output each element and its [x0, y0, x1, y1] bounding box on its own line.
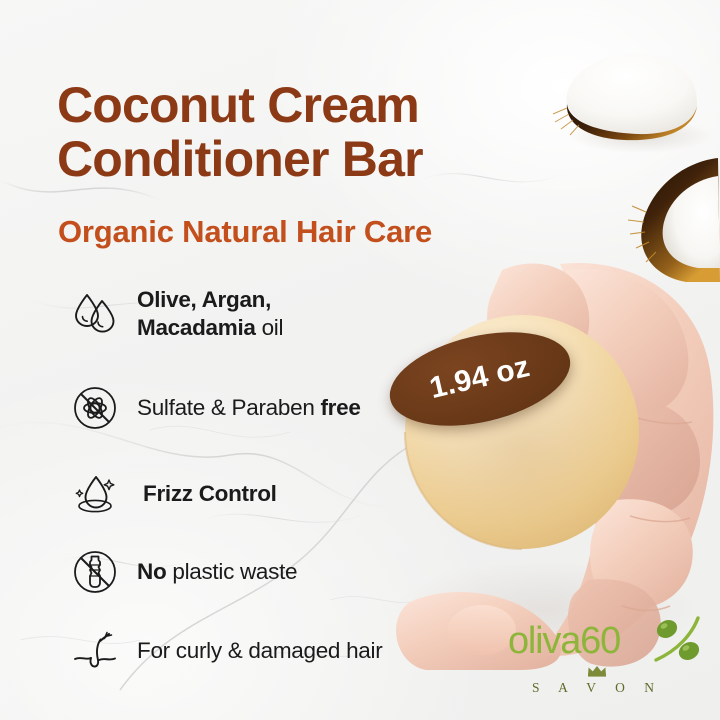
feature-oils-regular: oil [256, 315, 284, 340]
brand-name: oliva60 [508, 620, 620, 663]
weight-badge-label: 1.94 oz [427, 350, 534, 406]
feature-text-no-plastic: No plastic waste [137, 558, 297, 586]
oil-droplets-icon [66, 285, 124, 343]
no-plastic-bottle-icon [66, 543, 124, 601]
feature-oils-bold-1: Olive, Argan, [137, 287, 271, 312]
feature-plastic-bold: No [137, 559, 166, 584]
feature-curly-regular: For curly & damaged hair [137, 638, 382, 663]
droplet-sparkle-icon [66, 465, 124, 523]
feature-oils-bold-2: Macadamia [137, 315, 256, 340]
feature-text-frizz-control: Frizz Control [143, 480, 277, 508]
feature-sulfate-regular: Sulfate & Paraben [137, 395, 320, 420]
feature-text-curly-hair: For curly & damaged hair [137, 637, 382, 665]
headline-line-2: Conditioner Bar [57, 132, 577, 186]
page-title: Coconut Cream Conditioner Bar [57, 78, 577, 186]
feature-sulfate-bold: free [320, 395, 360, 420]
feature-frizz-bold: Frizz Control [143, 481, 277, 506]
olive-percent-icon [648, 616, 704, 666]
feature-plastic-regular: plastic waste [166, 559, 297, 584]
hair-follicle-icon [66, 622, 124, 680]
product-marketing-image: Coconut Cream Conditioner Bar Organic Na… [0, 0, 720, 720]
brand-logo: oliva60 S A V O N [508, 620, 704, 702]
feature-text-oils: Olive, Argan, Macadamia oil [137, 286, 283, 343]
feature-item-oils: Olive, Argan, Macadamia oil [66, 285, 283, 343]
brand-tagline: S A V O N [532, 680, 662, 696]
no-sulfate-molecule-icon [66, 379, 124, 437]
subheadline: Organic Natural Hair Care [58, 214, 432, 250]
feature-item-sulfate-free: Sulfate & Paraben free [66, 379, 361, 437]
feature-text-sulfate-free: Sulfate & Paraben free [137, 394, 361, 422]
feature-item-frizz-control: Frizz Control [66, 465, 277, 523]
headline-line-1: Coconut Cream [57, 78, 577, 132]
feature-item-no-plastic: No plastic waste [66, 543, 297, 601]
crown-icon [586, 664, 608, 678]
feature-item-curly-hair: For curly & damaged hair [66, 622, 382, 680]
product-photo-hand-holding-bar [330, 250, 720, 670]
